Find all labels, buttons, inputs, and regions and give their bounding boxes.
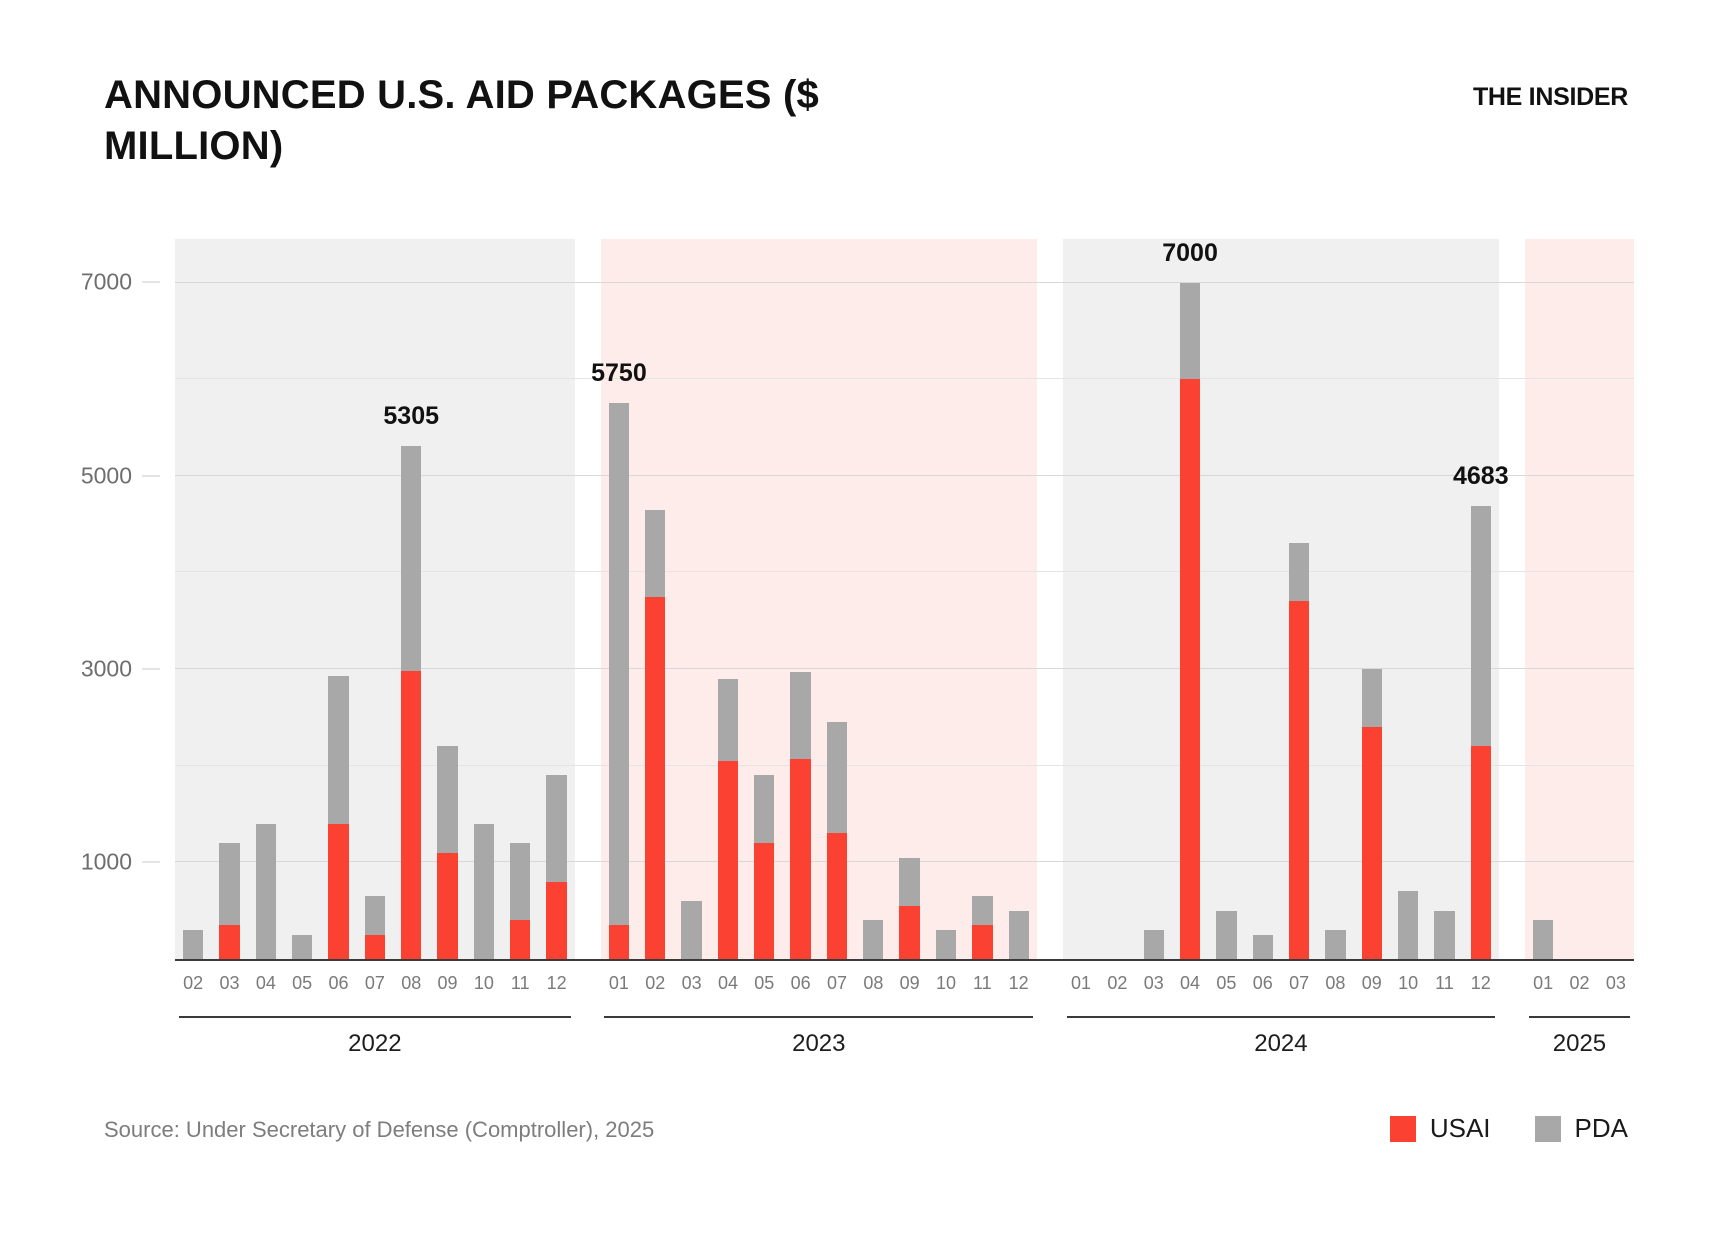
year-rule [1067,1016,1496,1018]
bar-2022-04[interactable] [256,824,276,959]
bar-segment-pda [681,901,701,959]
bar-segment-pda [437,746,457,852]
bar-segment-usai [609,925,629,959]
x-tick-label-2023-01: 01 [609,973,629,994]
bar-segment-usai [754,843,774,959]
x-tick-label-2023-12: 12 [1009,973,1029,994]
bar-segment-pda [1253,935,1273,959]
bar-segment-pda [754,775,774,843]
x-tick-label-2024-06: 06 [1253,973,1273,994]
x-tick-label-2024-11: 11 [1435,973,1454,994]
bar-segment-usai [510,920,530,959]
y-axis-tick-mark [142,669,160,670]
bar-2022-02[interactable] [183,930,203,959]
x-tick-label-2023-03: 03 [682,973,702,994]
x-tick-label-2022-02: 02 [183,973,203,994]
legend-label-usai: USAI [1430,1113,1491,1144]
bar-segment-pda [1434,911,1454,959]
x-tick-label-2022-05: 05 [292,973,312,994]
bar-2023-10[interactable] [936,930,956,959]
bar-segment-pda [1180,283,1200,380]
bar-value-label-2024-12: 4683 [1453,462,1509,491]
x-tick-label-2022-10: 10 [474,973,494,994]
bar-2023-12[interactable] [1009,911,1029,959]
bar-2023-09[interactable] [899,858,919,959]
bar-2022-08[interactable] [401,446,421,959]
bar-segment-pda [718,679,738,761]
x-tick-label-2023-07: 07 [827,973,847,994]
bar-2024-12[interactable] [1471,506,1491,959]
x-tick-label-2023-02: 02 [645,973,665,994]
x-tick-label-2024-01: 01 [1071,973,1091,994]
x-tick-label-2024-04: 04 [1180,973,1200,994]
bar-2024-08[interactable] [1325,930,1345,959]
bar-value-label-2022-08: 5305 [383,402,439,431]
page-title: ANNOUNCED U.S. AID PACKAGES ($ MILLION) [104,70,824,172]
plot-area: 5305575070004683 [175,239,1634,959]
year-rule [1529,1016,1631,1018]
legend-item-usai: USAI [1390,1113,1491,1144]
bar-2024-10[interactable] [1398,891,1418,959]
x-tick-label-2025-01: 01 [1533,973,1553,994]
bar-2023-04[interactable] [718,679,738,959]
bar-segment-pda [256,824,276,959]
bar-segment-usai [899,906,919,959]
bar-2022-05[interactable] [292,935,312,959]
bar-2024-09[interactable] [1362,669,1382,959]
brand-logo: THE INSIDER [1473,83,1628,112]
bar-segment-usai [437,853,457,959]
x-tick-label-2023-08: 08 [863,973,883,994]
bar-2022-03[interactable] [219,843,239,959]
x-tick-label-2024-02: 02 [1107,973,1127,994]
bar-segment-pda [1289,543,1309,601]
x-tick-label-2024-05: 05 [1216,973,1236,994]
bar-2022-10[interactable] [474,824,494,959]
x-tick-label-2022-11: 11 [511,973,530,994]
bar-segment-pda [1325,930,1345,959]
bar-segment-usai [972,925,992,959]
bar-segment-pda [899,858,919,906]
bar-segment-usai [827,833,847,959]
legend-swatch-pda [1535,1116,1561,1142]
bar-segment-pda [863,920,883,959]
x-tick-label-2024-08: 08 [1325,973,1345,994]
bar-segment-usai [365,935,385,959]
year-rule [604,1016,1033,1018]
chart-page: ANNOUNCED U.S. AID PACKAGES ($ MILLION) … [0,0,1732,1237]
bar-segment-pda [1471,506,1491,746]
bar-segment-usai [1362,727,1382,959]
x-tick-label-2025-03: 03 [1606,973,1626,994]
bar-segment-usai [1289,601,1309,959]
bar-segment-usai [219,925,239,959]
bar-2023-06[interactable] [790,672,810,959]
bar-segment-pda [1533,920,1553,959]
y-axis-tick-label: 3000 [81,656,132,683]
bar-segment-usai [790,759,810,959]
x-tick-label-2024-12: 12 [1471,973,1491,994]
y-axis-tick-label: 7000 [81,269,132,296]
x-tick-label-2025-02: 02 [1569,973,1589,994]
x-tick-label-2022-09: 09 [438,973,458,994]
legend-swatch-usai [1390,1116,1416,1142]
bar-2022-11[interactable] [510,843,530,959]
x-tick-label-2024-10: 10 [1398,973,1418,994]
bar-2025-01[interactable] [1533,920,1553,959]
legend: USAI PDA [1390,1113,1628,1144]
x-tick-label-2022-04: 04 [256,973,276,994]
x-tick-label-2024-03: 03 [1144,973,1164,994]
bar-2024-04[interactable] [1180,283,1200,960]
bar-segment-pda [474,824,494,959]
x-tick-label-2022-06: 06 [329,973,349,994]
x-tick-label-2023-09: 09 [900,973,920,994]
x-tick-label-2023-10: 10 [936,973,956,994]
bar-segment-pda [972,896,992,925]
bar-segment-pda [183,930,203,959]
x-tick-label-2022-03: 03 [219,973,239,994]
bar-segment-pda [645,510,665,597]
x-tick-label-2024-07: 07 [1289,973,1309,994]
bar-2024-03[interactable] [1144,930,1164,959]
bar-2024-05[interactable] [1216,911,1236,959]
year-label: 2023 [604,1030,1033,1058]
bar-segment-pda [401,446,421,671]
bar-segment-pda [1362,669,1382,727]
y-axis-tick-mark [142,475,160,476]
bar-2024-06[interactable] [1253,935,1273,959]
x-tick-label-2023-11: 11 [973,973,992,994]
bar-2023-01[interactable] [609,403,629,959]
bar-2022-07[interactable] [365,896,385,959]
x-tick-label-2022-12: 12 [547,973,567,994]
bar-value-label-2023-01: 5750 [591,359,647,388]
bar-segment-usai [1471,746,1491,959]
legend-item-pda: PDA [1535,1113,1628,1144]
x-tick-label-2023-06: 06 [791,973,811,994]
bar-segment-pda [790,672,810,759]
bar-series [175,239,1634,959]
bar-2022-09[interactable] [437,746,457,959]
bar-segment-usai [328,824,348,959]
bar-2023-03[interactable] [681,901,701,959]
bar-value-label-2024-04: 7000 [1162,239,1218,268]
bar-2024-07[interactable] [1289,543,1309,959]
bar-segment-pda [936,930,956,959]
legend-label-pda: PDA [1575,1113,1628,1144]
y-axis-tick-label: 5000 [81,462,132,489]
bar-segment-pda [365,896,385,935]
bar-2022-12[interactable] [546,775,566,959]
bar-segment-pda [1009,911,1029,959]
bar-2023-05[interactable] [754,775,774,959]
bar-segment-pda [609,403,629,925]
bar-segment-pda [546,775,566,881]
bar-segment-pda [1398,891,1418,959]
y-axis: 1000300050007000 [0,239,160,959]
bar-2022-06[interactable] [328,676,348,959]
x-tick-label-2023-05: 05 [754,973,774,994]
y-axis-tick-mark [142,862,160,863]
year-label: 2024 [1067,1030,1496,1058]
year-rule [179,1016,571,1018]
bar-segment-usai [645,597,665,959]
bar-segment-pda [1216,911,1236,959]
year-label: 2022 [179,1030,571,1058]
y-axis-tick-mark [142,282,160,283]
x-tick-label-2023-04: 04 [718,973,738,994]
bar-segment-usai [718,761,738,959]
bar-segment-pda [1144,930,1164,959]
year-label: 2025 [1529,1030,1631,1058]
bar-2023-02[interactable] [645,510,665,959]
x-axis-baseline [175,959,1634,961]
bar-segment-pda [510,843,530,920]
bar-2023-11[interactable] [972,896,992,959]
bar-segment-usai [546,882,566,959]
bar-segment-pda [292,935,312,959]
x-tick-label-2022-07: 07 [365,973,385,994]
y-axis-tick-label: 1000 [81,849,132,876]
bar-2024-11[interactable] [1434,911,1454,959]
x-tick-label-2024-09: 09 [1362,973,1382,994]
bar-segment-usai [1180,379,1200,959]
source-note: Source: Under Secretary of Defense (Comp… [104,1117,654,1143]
bar-segment-pda [328,676,348,823]
bar-segment-usai [401,671,421,959]
bar-2023-08[interactable] [863,920,883,959]
x-tick-label-2022-08: 08 [401,973,421,994]
bar-segment-pda [827,722,847,833]
bar-2023-07[interactable] [827,722,847,959]
bar-segment-pda [219,843,239,925]
